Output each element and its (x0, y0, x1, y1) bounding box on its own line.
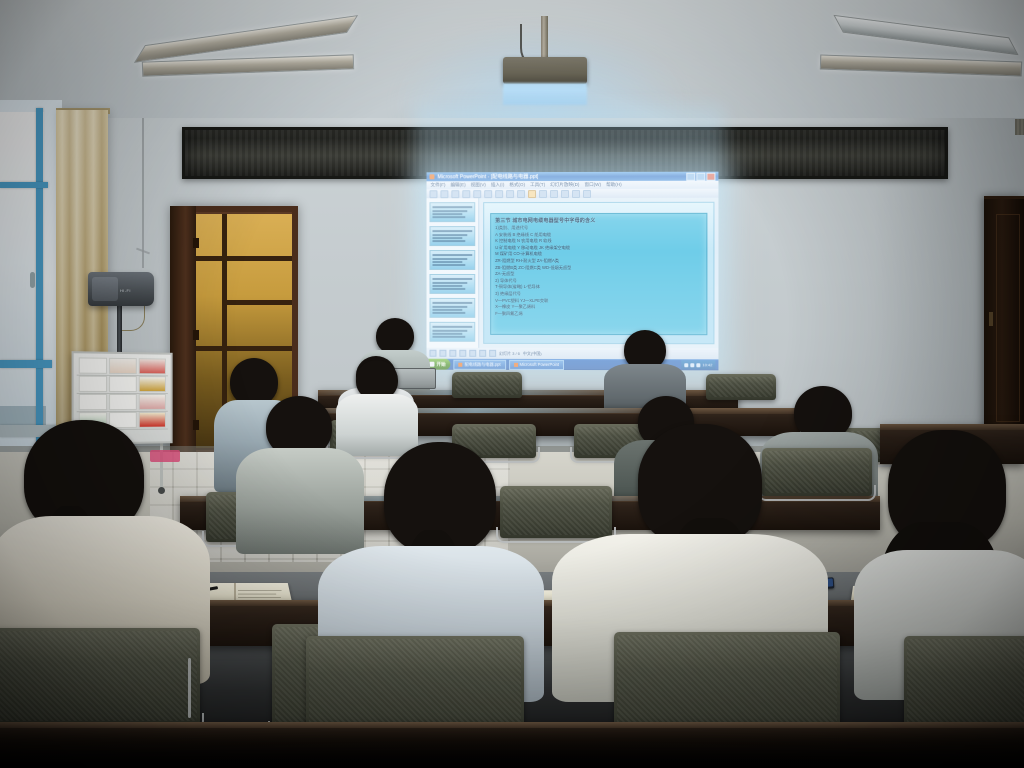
projector-lens-glow (503, 83, 587, 105)
slide-thumbnail[interactable] (430, 322, 476, 342)
window-controls[interactable] (686, 172, 715, 180)
maximize-button[interactable] (696, 172, 705, 180)
door-mullion-horizontal-1 (186, 256, 292, 261)
powerpoint-workspace: 第三节 城市电网电缆电器型号中字母的含义 1)类别、用途代号 A 安装线 B 绝… (427, 198, 719, 349)
oval-icon[interactable] (469, 350, 476, 357)
student-far-right (860, 430, 1024, 670)
taskbar-item[interactable]: Microsoft PowerPoint (509, 359, 564, 369)
menu-edit[interactable]: 编辑(E) (450, 182, 465, 188)
window-frame-horizontal-upper (0, 182, 48, 188)
menu-tools[interactable]: 工具(T) (530, 182, 545, 188)
slide-thumbnail[interactable] (430, 250, 476, 270)
rack-row (77, 393, 168, 412)
side-door-panel (996, 214, 1020, 422)
window-latch-handle[interactable] (30, 272, 35, 288)
slide-thumbnail[interactable] (430, 298, 476, 318)
powerpoint-icon (430, 174, 435, 179)
classroom-photo: HI-FI Microsoft PowerPoint - [配电线路与电器.pp… (0, 0, 1024, 768)
cut-icon[interactable] (495, 190, 503, 198)
line-icon[interactable] (449, 350, 456, 357)
instructor-head (376, 318, 414, 354)
ime-icon[interactable] (696, 363, 700, 367)
notebook-line (238, 594, 276, 595)
slide-line: T-铜导体(省略) L-铝导体 (495, 284, 702, 290)
ceiling-projector (503, 57, 587, 84)
projector-vent (1015, 119, 1024, 135)
paste-icon[interactable] (517, 190, 525, 198)
rack-row (77, 375, 168, 394)
menu-file[interactable]: 文件(F) (430, 182, 445, 188)
minimize-button[interactable] (686, 172, 695, 180)
language-indicator: 中文(中国) (523, 350, 542, 356)
slide-title: 第三节 城市电网电缆电器型号中字母的含义 (495, 217, 702, 224)
slide-thumbnail[interactable] (430, 202, 476, 222)
door-hinge-middle (193, 330, 199, 340)
menu-view[interactable]: 视图(V) (471, 182, 486, 188)
system-tray[interactable]: 10:42 (681, 360, 715, 369)
network-icon[interactable] (690, 363, 694, 367)
wall-conduit (142, 118, 144, 268)
powerpoint-icon (514, 362, 518, 366)
menu-insert[interactable]: 插入(I) (491, 182, 504, 188)
slide-line: K 控制电缆 N 农用电缆 R 软线 (495, 238, 702, 244)
print-icon[interactable] (462, 190, 470, 198)
slide-line: 1)类别、用途代号 (495, 225, 702, 231)
zoom-icon[interactable] (583, 189, 591, 197)
redo-icon[interactable] (539, 190, 547, 198)
slide-body: 1)类别、用途代号 A 安装线 B 绝缘线 C 船用电缆 K 控制电缆 N 农用… (495, 225, 702, 317)
menu-slideshow[interactable]: 幻灯片放映(D) (550, 182, 579, 188)
slide-line: X—橡皮 Y—聚乙烯料 (495, 304, 702, 310)
slide-line: F—聚四氟乙烯 (495, 311, 702, 317)
slide-line: ZR-阻燃型 RH-耐火型 ZA-阻燃A类 (495, 258, 702, 264)
projector-mount-rod (541, 16, 548, 60)
slide-content-box: 第三节 城市电网电缆电器型号中字母的含义 1)类别、用途代号 A 安装线 B 绝… (490, 213, 707, 335)
hyperlink-icon[interactable] (550, 190, 558, 198)
taskbar-item[interactable]: 配电线路与电器.ppt (454, 359, 506, 369)
slide-line: U 矿用电缆 Y 移动电缆 JK 绝缘架空电缆 (495, 245, 702, 251)
window-frame-vertical (36, 108, 43, 468)
foreground-shadow (0, 728, 1024, 768)
textbox-icon[interactable] (479, 350, 486, 357)
chair-front-left[interactable] (0, 628, 200, 724)
door-mullion-horizontal-3 (186, 346, 292, 351)
taskbar-clock: 10:42 (702, 362, 712, 367)
spellcheck-icon[interactable] (484, 190, 492, 198)
chart-icon[interactable] (572, 189, 580, 197)
window-title: Microsoft PowerPoint - [配电线路与电器.ppt] (437, 173, 538, 180)
speaker-grille (92, 277, 118, 301)
current-slide[interactable]: 第三节 城市电网电缆电器型号中字母的含义 1)类别、用途代号 A 安装线 B 绝… (483, 202, 714, 344)
slide-line: 3) 绝缘层代号 (495, 291, 702, 297)
student-front-left-ponytail (0, 420, 210, 660)
slide-counter: 幻灯片 3 / 6 (499, 350, 520, 356)
slide-line: ZB-阻燃B类 ZC-阻燃C类 WD-低烟无卤型 (495, 265, 702, 271)
speaker-brand-label: HI-FI (120, 288, 131, 293)
window-frame-horizontal-lower (0, 360, 52, 368)
slide-line: ZA-无卤型 (495, 271, 702, 277)
start-label: 开始 (436, 361, 445, 367)
rack-row (77, 356, 168, 376)
taskbar-item-label: Microsoft PowerPoint (520, 362, 559, 367)
slide-stage: 第三节 城市电网电缆电器型号中字母的含义 1)类别、用途代号 A 安装线 B 绝… (479, 198, 718, 349)
menu-format[interactable]: 格式(O) (509, 182, 525, 188)
powerpoint-toolbar[interactable] (427, 189, 719, 199)
notebook-line (238, 590, 282, 591)
powerpoint-icon (459, 362, 463, 366)
chair-armrest (188, 658, 191, 718)
chair-backrest (0, 628, 200, 724)
chair-row1-center[interactable] (452, 372, 522, 398)
door-mullion-horizontal-2 (222, 300, 292, 305)
undo-icon[interactable] (528, 190, 536, 198)
slide-line: A 安装线 B 绝缘线 C 船用电缆 (495, 231, 702, 237)
table-icon[interactable] (561, 190, 569, 198)
preview-icon[interactable] (473, 190, 481, 198)
slide-line: 2) 导体代号 (495, 278, 702, 284)
slide-line: M 煤矿用 CO-计算机电缆 (495, 251, 702, 257)
new-icon[interactable] (430, 190, 438, 198)
save-icon[interactable] (451, 190, 459, 198)
copy-icon[interactable] (506, 190, 514, 198)
rect-icon[interactable] (459, 350, 466, 357)
notebook-line (238, 597, 281, 598)
slide-thumbnail-panel[interactable] (427, 198, 480, 348)
open-icon[interactable] (440, 190, 448, 198)
taskbar-item-label: 配电线路与电器.ppt (464, 361, 500, 367)
close-button[interactable] (706, 172, 715, 180)
menu-window[interactable]: 窗口(W) (584, 182, 601, 188)
chair-backrest (452, 372, 522, 398)
slide-thumbnail[interactable] (430, 226, 476, 246)
draw-icon[interactable] (430, 350, 437, 357)
slide-thumbnail[interactable] (430, 274, 476, 294)
menu-help[interactable]: 帮助(H) (606, 182, 622, 188)
door-hinge-top (193, 238, 199, 248)
slide-line: V—PVC塑料 YJ—XLPE交联 (495, 297, 702, 303)
autoshapes-icon[interactable] (439, 350, 446, 357)
windows-flag-icon (430, 362, 435, 367)
side-door-handle[interactable] (989, 312, 993, 326)
wordart-icon[interactable] (489, 350, 496, 357)
